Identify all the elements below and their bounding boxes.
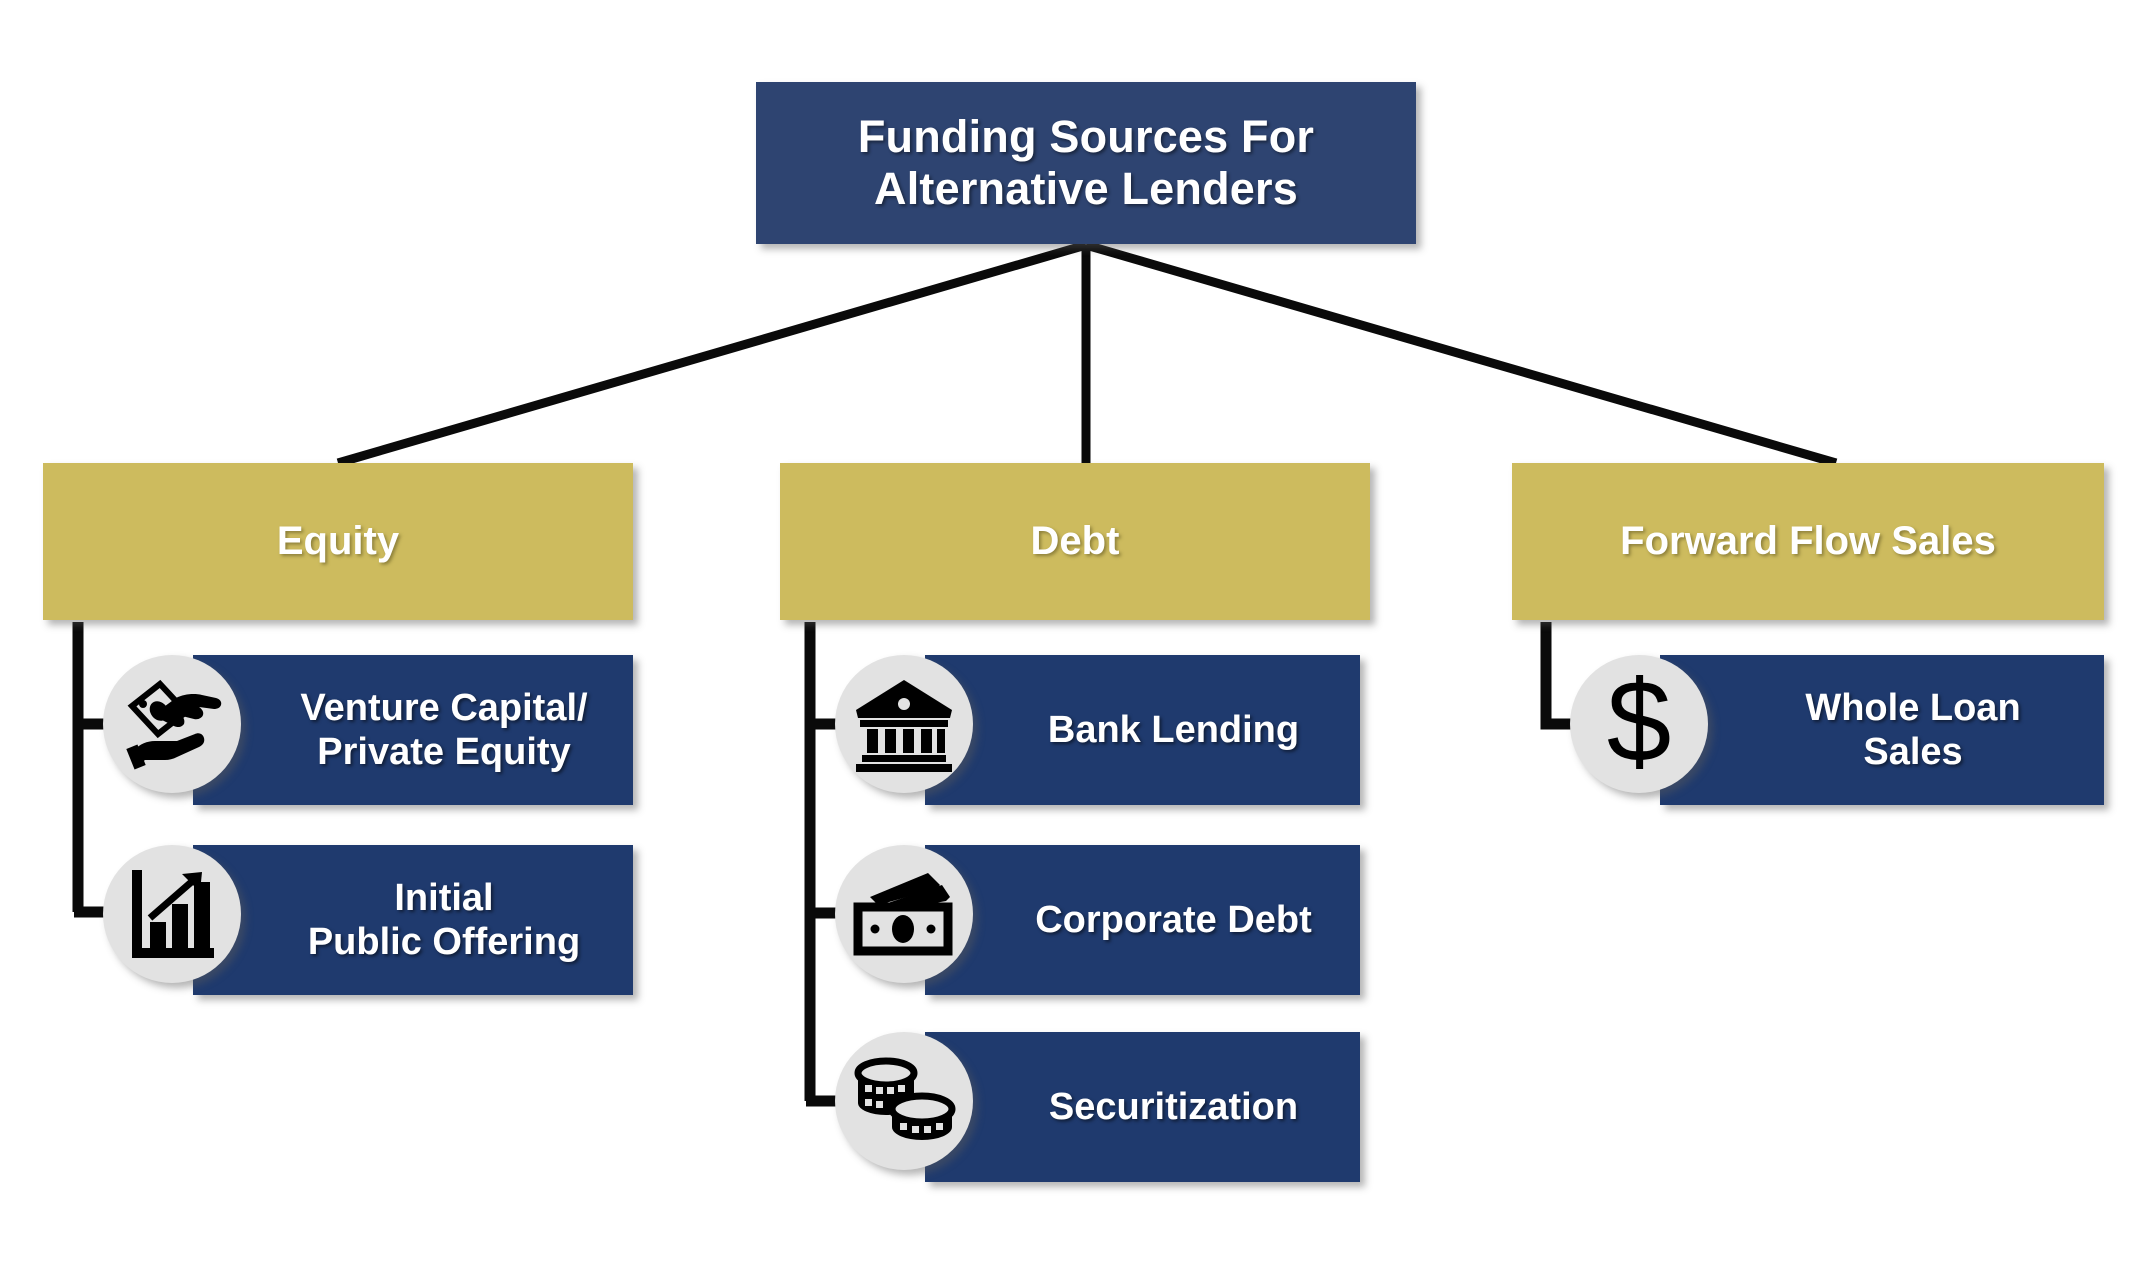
root-title-line-2: Alternative Lenders: [874, 163, 1298, 214]
banknotes-icon: [835, 845, 973, 983]
leaf-node-corporate-debt[interactable]: Corporate Debt: [925, 845, 1360, 995]
leaf-node-whole-loan-sales[interactable]: Whole Loan Sales: [1660, 655, 2104, 805]
root-title-line-1: Funding Sources For: [858, 111, 1314, 162]
category-label-debt: Debt: [1031, 518, 1120, 564]
bank-building-icon: [835, 655, 973, 793]
leaf-node-initial-public-offering[interactable]: Initial Public Offering: [193, 845, 633, 995]
leaf-node-bank-lending[interactable]: Bank Lending: [925, 655, 1360, 805]
leaf-label-securitization: Securitization: [925, 1085, 1360, 1129]
leaf-node-venture-capital-private-equity[interactable]: Venture Capital/ Private Equity: [193, 655, 633, 805]
hand-holding-money-icon: [103, 655, 241, 793]
root-node-funding-sources[interactable]: Funding Sources For Alternative Lenders: [756, 82, 1416, 244]
connector-root-to-equity: [338, 245, 1086, 463]
category-label-forward-flow-sales: Forward Flow Sales: [1620, 518, 1996, 564]
leaf-label-initial-public-offering: Initial Public Offering: [193, 876, 633, 964]
leaf-label-bank-lending: Bank Lending: [925, 708, 1360, 752]
category-node-equity[interactable]: Equity: [43, 463, 633, 620]
leaf-node-securitization[interactable]: Securitization: [925, 1032, 1360, 1182]
dollar-sign-icon: $: [1570, 655, 1708, 793]
category-node-debt[interactable]: Debt: [780, 463, 1370, 620]
diagram-canvas: Funding Sources For Alternative Lenders …: [0, 0, 2134, 1264]
category-node-forward-flow-sales[interactable]: Forward Flow Sales: [1512, 463, 2104, 620]
dollar-sign-glyph: $: [1607, 663, 1672, 779]
leaf-label-venture-capital-private-equity: Venture Capital/ Private Equity: [193, 686, 633, 774]
category-label-equity: Equity: [277, 518, 399, 564]
leaf-label-corporate-debt: Corporate Debt: [925, 898, 1360, 942]
leaf-label-whole-loan-sales: Whole Loan Sales: [1660, 686, 2104, 774]
bar-chart-growth-icon: [103, 845, 241, 983]
connector-root-to-forward: [1086, 245, 1836, 463]
stacked-coins-icon: [835, 1032, 973, 1170]
